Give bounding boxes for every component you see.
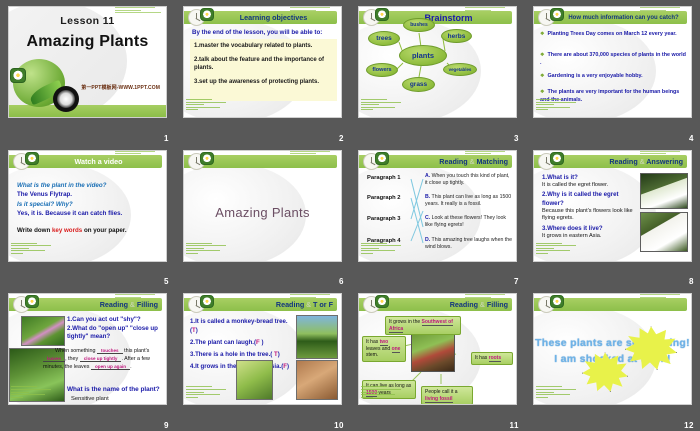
slide7-header-title: Reading & Matching: [439, 157, 508, 166]
slide-cell-12: These plants are so amazing! I am shocke…: [525, 287, 700, 431]
slide7-option-d: D. This amazing tree laughs when the win…: [425, 237, 513, 251]
slide-number-6: 6: [339, 277, 344, 286]
slide8-answer-1: It is called the egret flower.: [542, 182, 637, 190]
slide9-cloze-5: .: [130, 364, 132, 370]
slide8-header-part-b: Answering: [645, 157, 683, 166]
slide8-bottom-lines: [536, 243, 580, 256]
slide9-name-question: What is the name of the plant?: [67, 386, 160, 393]
slide4-bottom-lines: [536, 99, 580, 112]
slide8-question-2: 2.Why is it called the egret flower?: [542, 191, 637, 207]
slide9-header-title: Reading & Filling: [100, 300, 158, 309]
slide11-callout-roots-blank: roots: [489, 355, 502, 362]
slide1-lesson-label: Lesson 11: [9, 15, 166, 27]
flower-icon: [550, 295, 564, 308]
egret-flower-photo-2: [640, 212, 688, 252]
slide9-cloze-3: , they: [65, 356, 80, 362]
slide10-item-2-text: 2.The plant can laugh.(: [190, 339, 256, 346]
slide10-item-2-tail: ): [260, 339, 264, 346]
slide10-item-1: 1.It is called a monkey-bread tree.(T): [190, 318, 293, 334]
slide7-option-d-text: This amazing tree laughs when the wind b…: [425, 237, 512, 250]
slide-number-8: 8: [689, 277, 694, 286]
slide11-header-title: Reading & Filling: [450, 300, 508, 309]
slide11-callout-roots-pre: It has: [475, 355, 489, 361]
slide7-option-c-text: Look at these flowers! They look like fl…: [425, 215, 506, 228]
slide7-paragraph-1: Paragraph 1: [367, 175, 401, 181]
egret-flower-photo: [640, 173, 688, 209]
slide-cell-4: How much information can you catch? Plan…: [525, 0, 700, 144]
slide11-callout-fossil: People call it a living fossil: [421, 386, 473, 405]
slide-cell-5: Watch a video What is the plant in the v…: [0, 144, 175, 288]
slide7-option-a-text: When you touch this kind of plant, it cl…: [425, 173, 510, 186]
slide1-footer-band: [9, 105, 166, 117]
slide10-bottom-lines: [186, 386, 230, 399]
slide-number-4: 4: [689, 134, 694, 143]
flower-icon: [375, 295, 389, 308]
slide-thumbnail-8[interactable]: Reading & Answering 1.What is it? It is …: [533, 150, 692, 262]
slide5-header-title: Watch a video: [48, 157, 122, 166]
slide12-line1-post: !: [686, 337, 690, 349]
flower-icon: [25, 152, 39, 165]
dandelion-icon: [53, 86, 79, 112]
slide10-header-title: Reading & T or F: [276, 300, 333, 309]
slide-thumbnail-5[interactable]: Watch a video What is the plant in the v…: [8, 150, 167, 262]
slide7-option-a: A. When you touch this kind of plant, it…: [425, 173, 513, 187]
slide-cell-2: Learning objectives By the end of the le…: [175, 0, 350, 144]
slide-cell-10: Reading & T or F 1.It is called a monkey…: [175, 287, 350, 431]
slide4-bullet-2: There are about 370,000 species of plant…: [540, 52, 687, 67]
slide1-watermark-url: 第一PPT模板网-WWW.1PPT.COM: [81, 84, 160, 91]
slide11-callout-location-pre: It grows in the: [389, 319, 422, 325]
slide9-header-part-b: Filling: [135, 300, 158, 309]
slide12-line1-pre: These plants are so: [535, 337, 642, 349]
slide9-header-part-a: Reading: [100, 300, 130, 309]
slide9-blank-4: open up again: [91, 364, 130, 370]
slide11-callout-roots: It has roots: [471, 352, 513, 365]
slide6-title: Amazing Plants: [184, 205, 341, 220]
slide-cell-8: Reading & Answering 1.What is it? It is …: [525, 144, 700, 288]
slide7-option-c: C. Look at these flowers! They look like…: [425, 215, 513, 229]
slide11-callout-leaves-blank2: one: [392, 346, 401, 353]
slide10-item-3-text: 3.There is a hole in the tree.(: [190, 351, 274, 358]
slide10-item-3-tail: ): [278, 351, 280, 358]
slide9-cloze-2: this plant's: [123, 348, 150, 354]
slide-number-1: 1: [164, 134, 169, 143]
slide5-question-1: What is the plant in the video?: [17, 181, 160, 191]
flower-icon: [10, 68, 26, 83]
slide11-callout-fossil-pre: People call it a: [425, 389, 458, 395]
slide7-bottom-lines: [361, 243, 405, 256]
slide5-answer-2: Yes, it is. Because it can catch flies.: [17, 209, 160, 219]
mindmap-node-herbs: herbs: [441, 29, 472, 43]
slide-thumbnail-10[interactable]: Reading & T or F 1.It is called a monkey…: [183, 293, 342, 405]
slide-number-2: 2: [339, 134, 344, 143]
slide11-header-part-b: Filling: [485, 300, 508, 309]
slide-cell-7: Reading & Matching Paragraph 1 Paragraph…: [350, 144, 525, 288]
flower-icon: [25, 295, 39, 308]
mindmap-node-trees: trees: [368, 31, 400, 46]
flower-icon: [550, 152, 564, 165]
slide-number-12: 12: [684, 421, 694, 430]
slide-thumbnail-11[interactable]: Reading & Filling It grows in the Southw…: [358, 293, 517, 405]
slide8-header-part-a: Reading: [609, 157, 639, 166]
slide10-item-3: 3.There is a hole in the tree.( T): [190, 351, 293, 359]
flower-icon: [200, 8, 214, 21]
slide10-header-part-a: Reading: [276, 300, 306, 309]
slide8-question-3: 3.Where does it live?: [542, 225, 637, 233]
slide9-bottom-lines: [11, 386, 55, 399]
slide11-callout-leaves-pre: It has: [366, 339, 380, 345]
slide7-paragraph-2: Paragraph 2: [367, 195, 401, 201]
slide-thumbnail-9[interactable]: Reading & Filling 1.Can you act out "shy…: [8, 293, 167, 405]
slide10-header-part-b: T or F: [311, 300, 333, 309]
slide7-header-part-a: Reading: [439, 157, 469, 166]
slide7-option-b: B. This plant can live as long as 1500 y…: [425, 194, 513, 208]
slide5-task-pre: Write down: [17, 227, 52, 234]
slide2-lead-text: By the end of the lesson, you will be ab…: [192, 29, 322, 36]
slide8-answer-3: It grows in eastern Asia.: [542, 233, 637, 241]
slide-number-9: 9: [164, 421, 169, 430]
slide2-header-title: Learning objectives: [214, 13, 308, 22]
slide5-task: Write down key words on your paper.: [17, 226, 160, 236]
slide3-bottom-lines: [361, 99, 405, 112]
slide2-objectives-box: 1.master the vocabulary related to plant…: [190, 39, 337, 101]
slide5-question-2: Is it special? Why?: [17, 200, 160, 210]
slide8-header-title: Reading & Answering: [609, 157, 683, 166]
mindmap-node-bushes: bushes: [403, 18, 435, 32]
slide9-name-answer: Sensitive plant: [71, 396, 109, 402]
slide-number-3: 3: [514, 134, 519, 143]
slide-cell-6: Amazing Plants 6: [175, 144, 350, 288]
slide4-bullet-1: Planting Trees Day comes on March 12 eve…: [540, 31, 687, 39]
slide8-answer-2: Because this plant's flowers look like f…: [542, 208, 637, 223]
slide2-objective-2: 2.talk about the feature and the importa…: [194, 56, 333, 73]
slide12-bottom-lines: [536, 386, 580, 399]
slide11-callout-leaves-post: leaves and: [366, 346, 392, 352]
sensitive-plant-photo-1: [21, 316, 65, 346]
slide-thumbnail-grid: Lesson 11 Amazing Plants 第一PPT模板网-WWW.1P…: [0, 0, 700, 431]
slide-thumbnail-3[interactable]: Brainstorm plants bushes trees: [358, 6, 517, 118]
welwitschia-photo: [411, 334, 455, 372]
slide5-task-keyword: key words: [52, 227, 82, 234]
slide2-objective-3: 3.set up the awareness of protecting pla…: [194, 78, 333, 87]
slide-number-11: 11: [510, 421, 519, 430]
slide11-callout-leaves: It has two leaves and one stem.: [362, 336, 406, 362]
flower-icon: [375, 152, 389, 165]
slide-cell-3: Brainstorm plants bushes trees: [350, 0, 525, 144]
slide8-question-1: 1.What is it?: [542, 174, 637, 182]
slide7-option-b-text: This plant can live as long as 1500 year…: [425, 194, 511, 207]
slide-cell-9: Reading & Filling 1.Can you act out "shy…: [0, 287, 175, 431]
baobab-tree-photo: [296, 315, 338, 359]
flower-icon: [200, 152, 214, 165]
slide11-header-part-a: Reading: [450, 300, 480, 309]
slide11-bottom-lines: [361, 386, 405, 399]
slide11-callout-fossil-blank: living fossil: [425, 396, 453, 403]
flower-icon: [550, 8, 564, 21]
slide-number-7: 7: [514, 277, 519, 286]
slide10-item-1-tail: ): [196, 327, 198, 334]
mindmap-center-node: plants: [399, 45, 447, 66]
slide10-item-1-text: 1.It is called a monkey-bread tree.(: [190, 318, 288, 333]
slide7-header-part-b: Matching: [474, 157, 508, 166]
slide-thumbnail-7[interactable]: Reading & Matching Paragraph 1 Paragraph…: [358, 150, 517, 262]
mindmap-node-vegetables: vegetables: [443, 63, 477, 76]
flower-icon: [375, 8, 389, 21]
slide5-task-post: on your paper.: [82, 227, 126, 234]
slide6-bottom-lines: [186, 243, 230, 256]
slide11-callout-location: It grows in the Southwest of Africa: [385, 316, 461, 335]
mindmap-node-grass: grass: [402, 77, 435, 92]
slide2-objective-1: 1.master the vocabulary related to plant…: [194, 42, 333, 51]
slide5-answer-1: The Venus Flytrap.: [17, 190, 160, 200]
slide-thumbnail-2[interactable]: Learning objectives By the end of the le…: [183, 6, 342, 118]
slide-thumbnail-4[interactable]: How much information can you catch? Plan…: [533, 6, 692, 118]
slide2-bottom-lines: [186, 99, 230, 112]
slide-thumbnail-1[interactable]: Lesson 11 Amazing Plants 第一PPT模板网-WWW.1P…: [8, 6, 167, 118]
slide1-top-lines: [115, 7, 163, 15]
slide11-callout-leaves-post2: stem.: [366, 352, 378, 358]
slide-number-10: 10: [334, 421, 344, 430]
slide10-item-4-tail: ): [287, 363, 289, 370]
slide7-paragraph-3: Paragraph 3: [367, 216, 401, 222]
slide10-item-2: 2.The plant can laugh.(F ): [190, 339, 293, 347]
slide4-bullet-3: Gardening is a very enjoyable hobby.: [540, 73, 687, 81]
slide12-line2-pre: I am: [554, 353, 579, 365]
slide-thumbnail-6[interactable]: Amazing Plants: [183, 150, 342, 262]
baobab-fruit-open-photo: [296, 360, 338, 400]
flower-icon: [200, 295, 214, 308]
slide9-question-2: 2.What do "open up" "close up tightly" m…: [67, 325, 163, 342]
slide9-cloze: When something touches this plant's leav…: [43, 348, 163, 371]
slide9-cloze-1: When something: [43, 348, 97, 354]
slide5-bottom-lines: [11, 243, 55, 256]
slide9-blank-1: touches: [97, 348, 123, 354]
slide9-blank-2: leaves: [43, 356, 65, 362]
slide-cell-11: Reading & Filling It grows in the Southw…: [350, 287, 525, 431]
mindmap-node-flowers: flowers: [366, 63, 398, 77]
slide9-blank-3: close up tightly: [80, 356, 122, 362]
slide-number-5: 5: [164, 277, 169, 286]
baobab-fruit-photo: [236, 360, 273, 400]
slide-cell-1: Lesson 11 Amazing Plants 第一PPT模板网-WWW.1P…: [0, 0, 175, 144]
slide-thumbnail-12[interactable]: These plants are so amazing! I am shocke…: [533, 293, 692, 405]
slide1-title: Amazing Plants: [9, 33, 166, 51]
slide9-question-1: 1.Can you act out "shy"?: [67, 316, 163, 324]
